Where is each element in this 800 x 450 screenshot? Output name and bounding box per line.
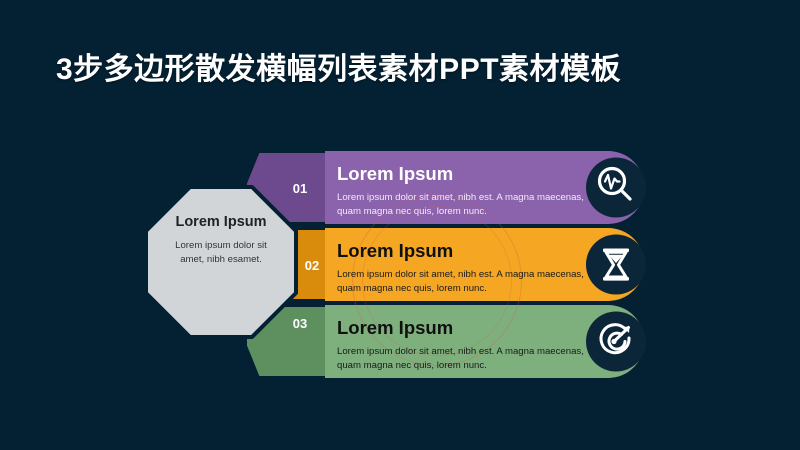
row-1-number: 01: [280, 181, 320, 196]
row-2-icon-badge: [586, 235, 646, 295]
center-octagon[interactable]: [146, 187, 296, 337]
row-3-title: Lorem Ipsum: [337, 317, 453, 339]
row-3-body-text: Lorem ipsum dolor sit amet, nibh est. A …: [337, 345, 587, 372]
diagram-shapes: [0, 0, 800, 450]
row-1-icon-badge: [586, 158, 646, 218]
row-2-body-text: Lorem ipsum dolor sit amet, nibh est. A …: [337, 268, 587, 295]
row-2-number: 02: [292, 258, 332, 273]
row-3-number: 03: [280, 316, 320, 331]
row-1-title: Lorem Ipsum: [337, 163, 453, 185]
row-1-body-text: Lorem ipsum dolor sit amet, nibh est. A …: [337, 191, 587, 218]
row-2-title: Lorem Ipsum: [337, 240, 453, 262]
infographic-diagram: Lorem Ipsum Lorem ipsum dolor sit amet, …: [0, 0, 800, 450]
